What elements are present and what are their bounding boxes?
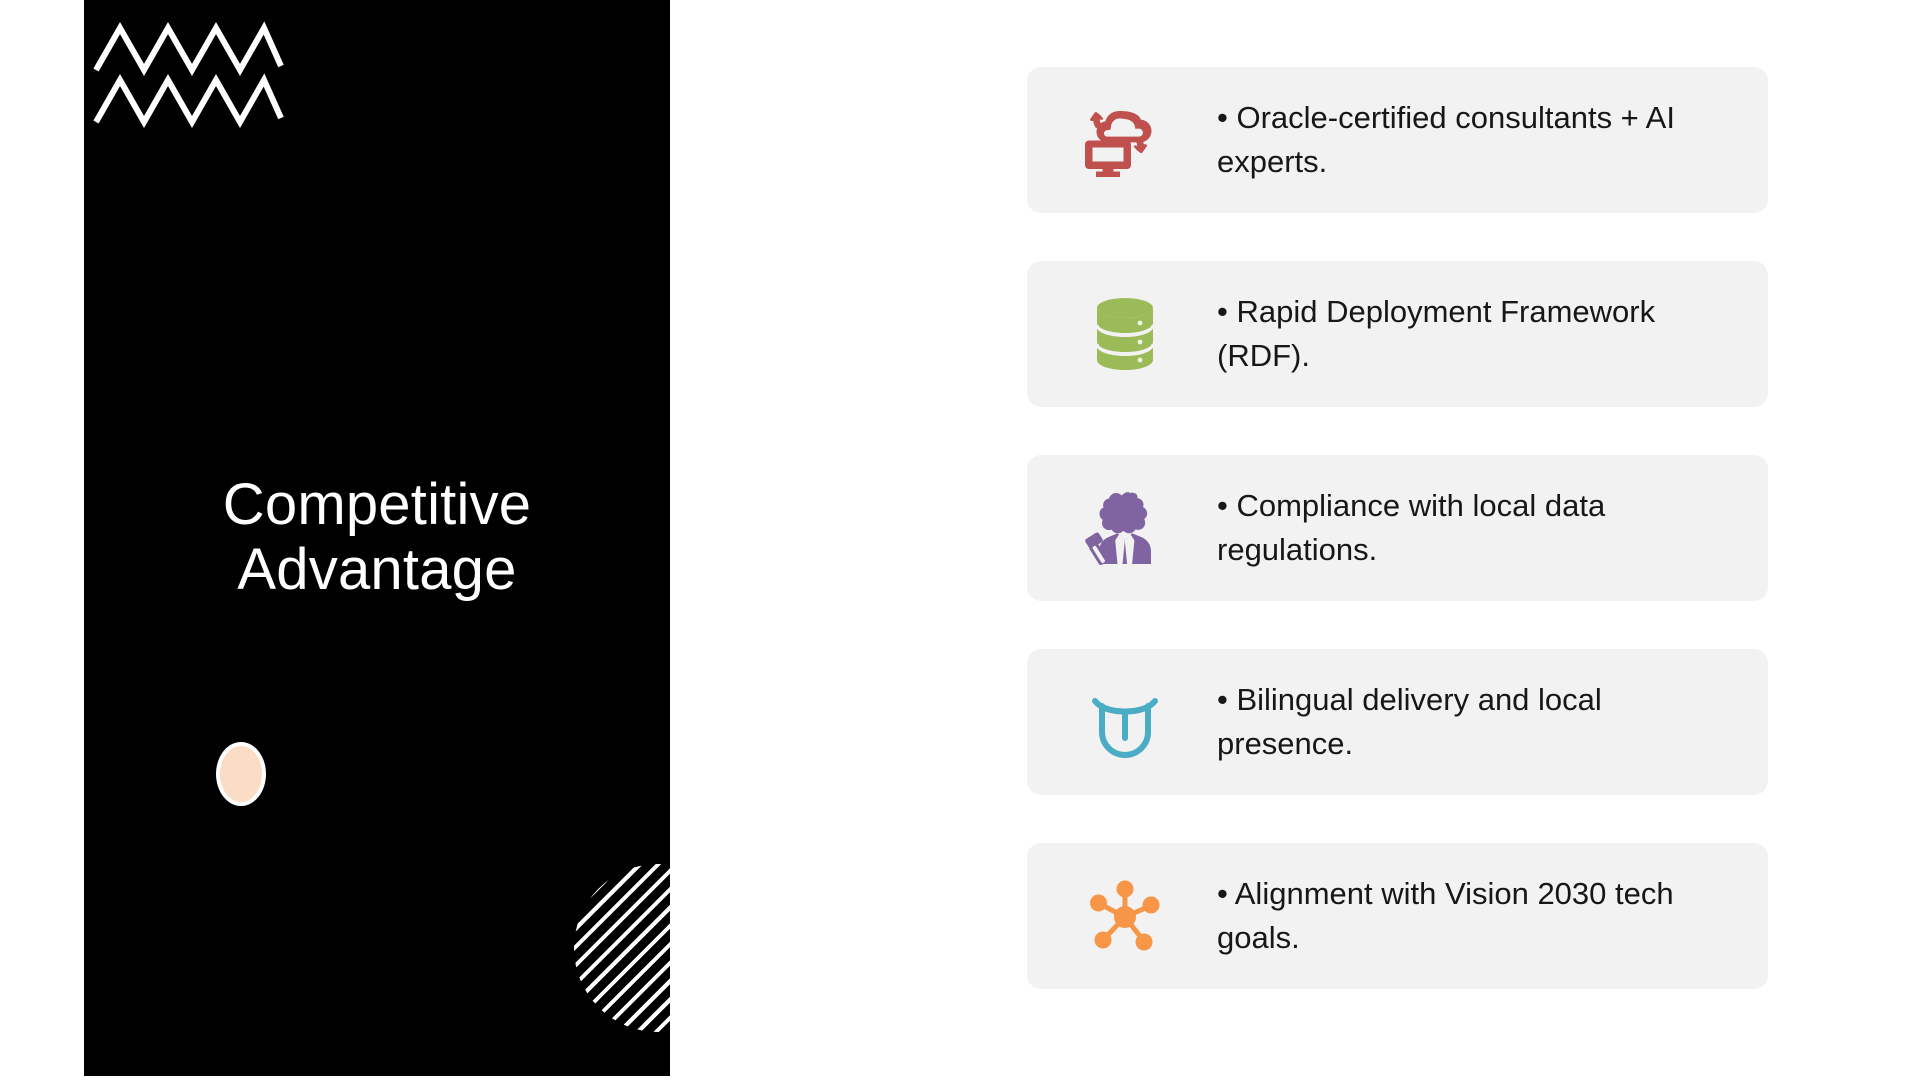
list-item[interactable]: • Alignment with Vision 2030 tech goals. [1027,843,1768,989]
judge-gavel-icon [1075,490,1175,566]
list-item[interactable]: • Bilingual delivery and local presence. [1027,649,1768,795]
list-item-label: • Oracle-certified consultants + AI expe… [1217,96,1768,184]
bullet-cards-column: • Oracle-certified consultants + AI expe… [1027,67,1768,989]
list-item[interactable]: • Compliance with local data regulations… [1027,455,1768,601]
page-title-text: Competitive Advantage [212,473,542,603]
list-item-label: • Bilingual delivery and local presence. [1217,678,1768,766]
title-panel: Competitive Advantage [84,0,670,1076]
list-item-label: • Rapid Deployment Framework (RDF). [1217,290,1768,378]
diagonal-stripes [574,864,670,1032]
peach-ellipse-decoration [216,742,266,806]
list-item[interactable]: • Oracle-certified consultants + AI expe… [1027,67,1768,213]
cloud-sync-monitor-icon [1075,103,1175,177]
network-hub-icon [1075,877,1175,955]
list-item[interactable]: • Rapid Deployment Framework (RDF). [1027,261,1768,407]
list-item-label: • Alignment with Vision 2030 tech goals. [1217,872,1768,960]
tongue-icon [1075,686,1175,758]
list-item-label: • Compliance with local data regulations… [1217,484,1768,572]
database-stack-icon [1075,296,1175,372]
striped-circle-decoration [574,864,670,1032]
